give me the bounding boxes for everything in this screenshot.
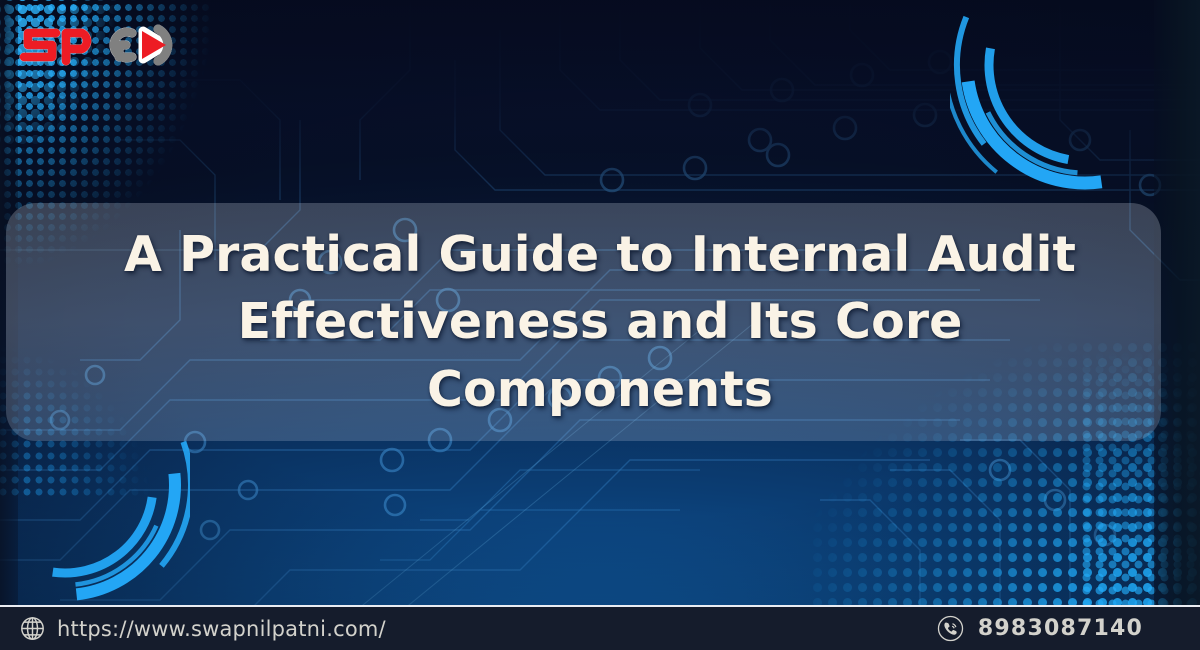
promo-banner: A Practical Guide to Internal Audit Effe… [0,0,1200,650]
globe-icon [19,615,46,642]
banner-title: A Practical Guide to Internal Audit Effe… [90,221,1110,422]
spc-logo[interactable] [14,16,192,74]
footer-bar: https://www.swapnilpatni.com/ 8983087140 [0,605,1200,650]
arc-decoration-top-right [950,0,1200,200]
footer-phone[interactable]: 8983087140 [936,614,1200,643]
logo-sp-mark [24,33,87,61]
phone-icon [936,614,965,643]
phone-number[interactable]: 8983087140 [978,616,1143,641]
website-url[interactable]: https://www.swapnilpatni.com/ [57,617,386,641]
title-area: A Practical Guide to Internal Audit Effe… [0,206,1200,438]
footer-website[interactable]: https://www.swapnilpatni.com/ [0,615,386,642]
